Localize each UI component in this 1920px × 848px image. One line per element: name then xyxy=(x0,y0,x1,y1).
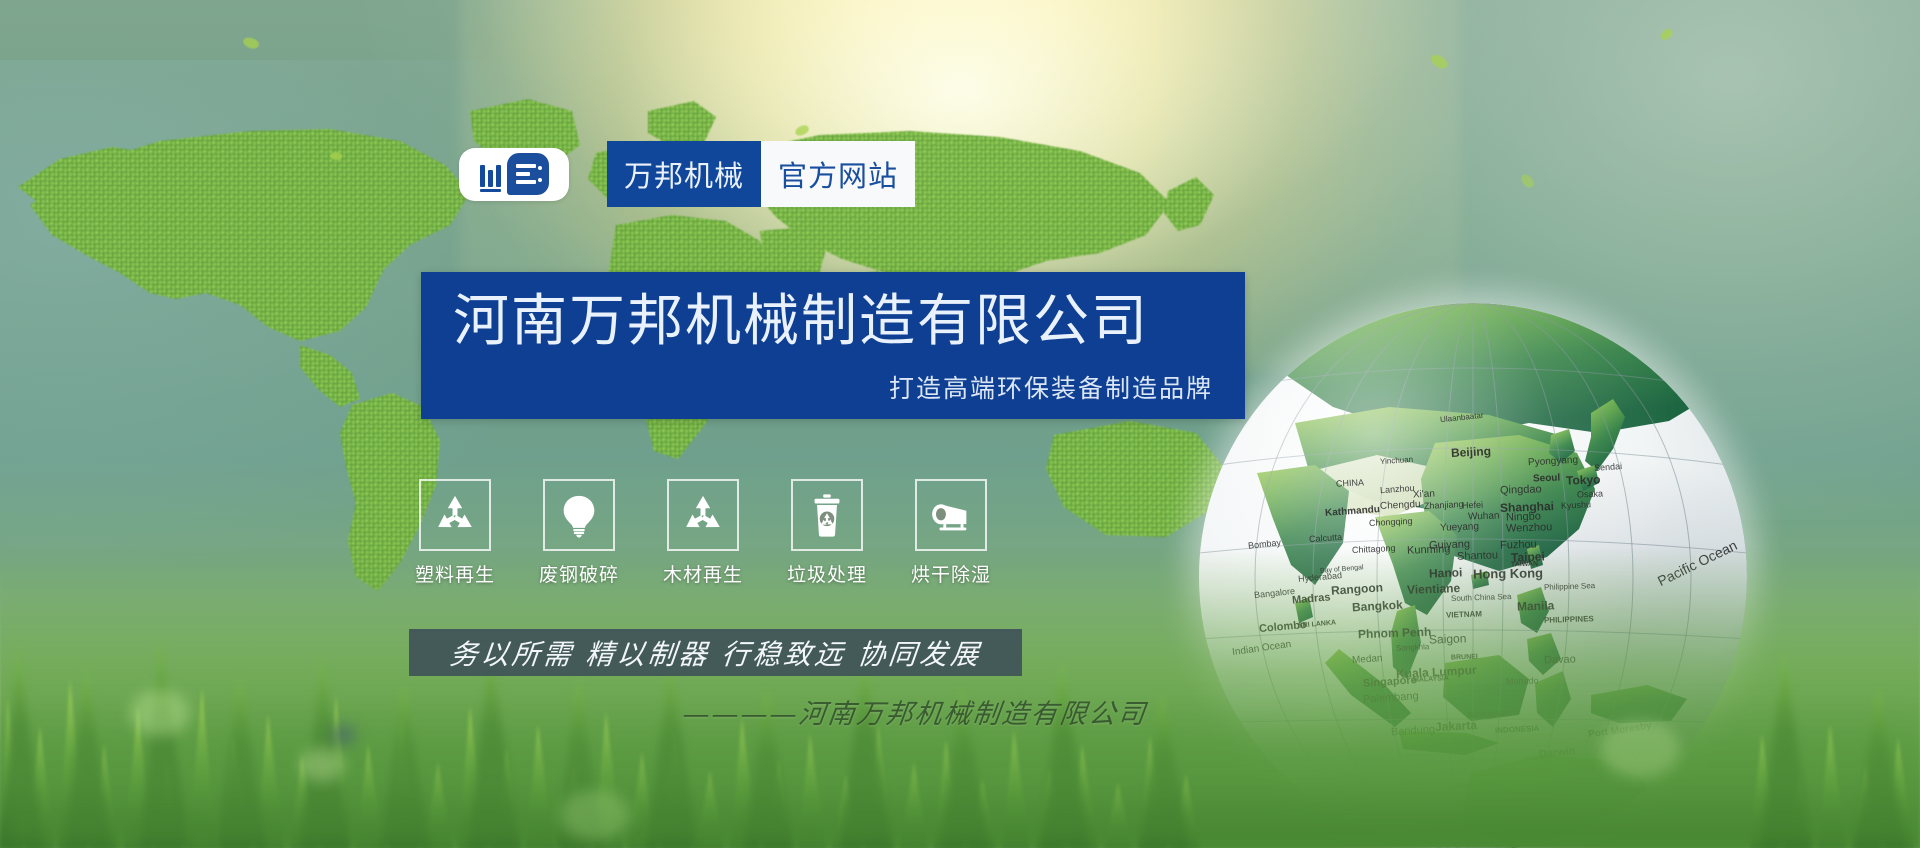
bokeh-spot xyxy=(560,790,630,840)
globe-city-label: Beijing xyxy=(1451,444,1492,460)
globe-city-label: Sendai xyxy=(1593,461,1622,473)
wanbang-logo[interactable] xyxy=(459,148,569,201)
hero-banner: 河南万邦机械制造有限公司 打造高端环保装备制造品牌 xyxy=(421,272,1245,419)
logo-b-icon xyxy=(507,153,549,195)
bokeh-spot xyxy=(130,690,190,736)
globe-city-label: Yueyang xyxy=(1440,522,1479,534)
feature-label: 塑料再生 xyxy=(415,560,495,587)
recycle-icon xyxy=(419,479,491,551)
feature-label: 垃圾处理 xyxy=(787,560,867,587)
feature-label: 废钢破碎 xyxy=(539,560,619,587)
globe-city-label: Lanzhou xyxy=(1380,483,1415,495)
slogan-attribution: ————河南万邦机械制造有限公司 xyxy=(653,692,1178,731)
bokeh-spot xyxy=(300,748,344,782)
brand-tab-official-site[interactable]: 官方网站 xyxy=(761,141,915,207)
site-header: 万邦机械 官方网站 xyxy=(459,138,915,210)
brand-tabs: 万邦机械 官方网站 xyxy=(607,141,915,207)
globe-city-label: Qingdao xyxy=(1500,483,1542,496)
globe-city-label: Hefei xyxy=(1462,500,1483,511)
trash-bin-icon xyxy=(791,479,863,551)
globe-city-label: Wenzhou xyxy=(1506,521,1553,535)
dryer-drum-icon xyxy=(915,479,987,551)
company-tagline: 打造高端环保装备制造品牌 xyxy=(889,369,1213,405)
globe-city-label: Tokyo xyxy=(1566,472,1601,487)
brand-tab-company[interactable]: 万邦机械 xyxy=(607,141,761,207)
feature-waste-treatment[interactable]: 垃圾处理 xyxy=(791,479,863,587)
recycle-icon xyxy=(667,479,739,551)
feature-drying-dehumidifying[interactable]: 烘干除湿 xyxy=(915,479,987,587)
feature-plastic-recycling[interactable]: 塑料再生 xyxy=(419,479,491,587)
feature-scrap-steel-crushing[interactable]: 废钢破碎 xyxy=(543,479,615,587)
feature-wood-recycling[interactable]: 木材再生 xyxy=(667,479,739,587)
feature-list: 塑料再生 废钢破碎 木材再生 xyxy=(419,479,987,587)
globe-city-label: CHINA xyxy=(1336,478,1365,489)
lightbulb-icon xyxy=(543,479,615,551)
slogan-text: 务以所需 精以制器 行稳致远 协同发展 xyxy=(448,633,984,673)
company-name: 河南万邦机械制造有限公司 xyxy=(453,276,1149,357)
globe-city-label: Kyushu xyxy=(1560,499,1591,511)
bokeh-spot xyxy=(330,724,356,746)
hero-stage: UlaanbaatarBeijingYinchuanLanzhouPyongya… xyxy=(0,0,1920,848)
feature-label: 烘干除湿 xyxy=(911,560,991,587)
slogan-bar: 务以所需 精以制器 行稳致远 协同发展 xyxy=(409,629,1022,676)
logo-w-icon xyxy=(480,162,501,187)
feature-label: 木材再生 xyxy=(663,560,743,587)
bokeh-spot xyxy=(1600,720,1680,778)
globe-city-label: Chongqing xyxy=(1369,516,1413,528)
